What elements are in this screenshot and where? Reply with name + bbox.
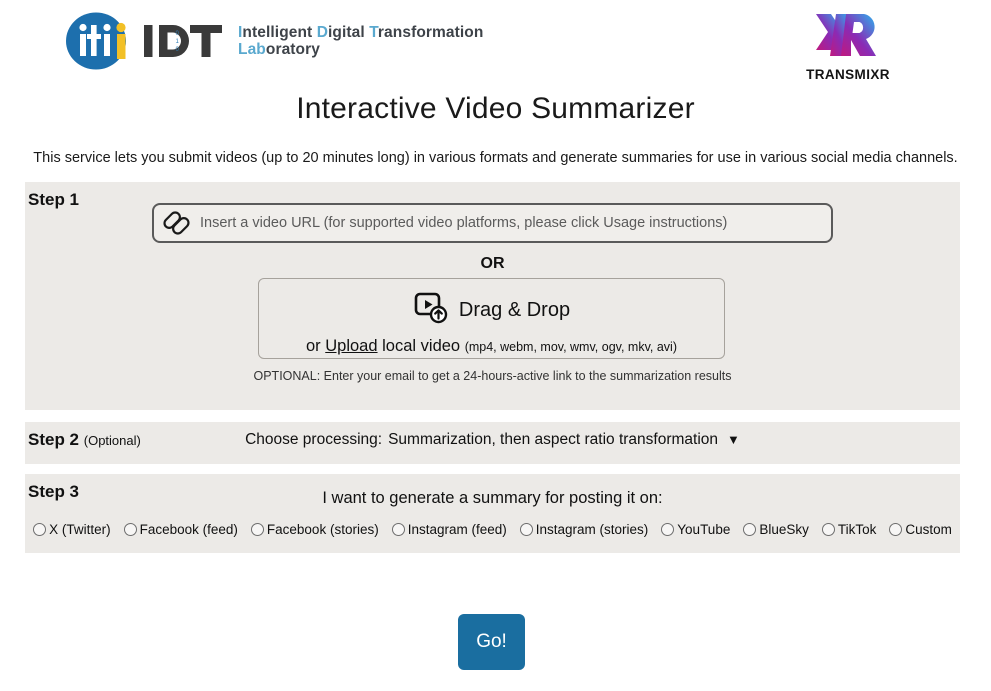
radio-option-youtube[interactable]: YouTube bbox=[661, 522, 730, 537]
radio-option-facebook-stories[interactable]: Facebook (stories) bbox=[251, 522, 379, 537]
go-button[interactable]: Go! bbox=[458, 614, 525, 670]
radio-label: Facebook (stories) bbox=[267, 522, 379, 537]
radio-circle-icon[interactable] bbox=[743, 523, 756, 536]
step1-label: Step 1 bbox=[28, 190, 79, 210]
radio-circle-icon[interactable] bbox=[33, 523, 46, 536]
video-upload-icon bbox=[413, 290, 449, 331]
radio-option-x-twitter[interactable]: X (Twitter) bbox=[33, 522, 111, 537]
processing-select[interactable]: Summarization, then aspect ratio transfo… bbox=[388, 431, 718, 448]
radio-circle-icon[interactable] bbox=[889, 523, 902, 536]
page-title: Interactive Video Summarizer bbox=[0, 92, 991, 126]
page-description: This service lets you submit videos (up … bbox=[0, 150, 991, 166]
processing-label: Choose processing: bbox=[245, 431, 382, 448]
radio-option-bluesky[interactable]: BlueSky bbox=[743, 522, 809, 537]
radio-label: Instagram (feed) bbox=[408, 522, 507, 537]
dropzone-prefix: or bbox=[306, 337, 325, 355]
upload-link[interactable]: Upload bbox=[325, 337, 377, 355]
page-header: 0 1 0 Intelligent Digital Transformation… bbox=[0, 0, 991, 84]
svg-text:1: 1 bbox=[176, 39, 180, 45]
transmixr-logo: TRANSMIXR bbox=[800, 8, 896, 82]
step3-prompt: I want to generate a summary for posting… bbox=[25, 489, 960, 508]
radio-option-instagram-stories[interactable]: Instagram (stories) bbox=[520, 522, 649, 537]
dropzone-suffix: local video bbox=[378, 337, 465, 355]
transmixr-wordmark: TRANSMIXR bbox=[800, 67, 896, 82]
processing-row: Choose processing:Summarization, then as… bbox=[25, 431, 960, 449]
video-url-input[interactable]: Insert a video URL (for supported video … bbox=[152, 203, 833, 243]
idt-tagline: Intelligent Digital Transformation Labor… bbox=[238, 24, 483, 59]
radio-label: TikTok bbox=[838, 522, 877, 537]
social-channel-radio-group: X (Twitter) Facebook (feed) Facebook (st… bbox=[25, 522, 960, 537]
radio-label: Instagram (stories) bbox=[536, 522, 649, 537]
iti-mark-icon bbox=[66, 12, 140, 70]
radio-circle-icon[interactable] bbox=[822, 523, 835, 536]
dropzone-title: Drag & Drop bbox=[459, 299, 570, 322]
radio-circle-icon[interactable] bbox=[392, 523, 405, 536]
link-chain-icon bbox=[154, 208, 200, 238]
radio-option-instagram-feed[interactable]: Instagram (feed) bbox=[392, 522, 507, 537]
radio-circle-icon[interactable] bbox=[124, 523, 137, 536]
idt-tagline-line1: Intelligent Digital Transformation bbox=[238, 24, 483, 41]
idt-wordmark: 0 1 0 bbox=[144, 19, 224, 63]
radio-circle-icon[interactable] bbox=[661, 523, 674, 536]
video-url-placeholder: Insert a video URL (for supported video … bbox=[200, 215, 727, 231]
or-divider-text: OR bbox=[25, 255, 960, 273]
radio-option-tiktok[interactable]: TikTok bbox=[822, 522, 877, 537]
chevron-down-icon[interactable]: ▼ bbox=[727, 432, 740, 447]
radio-circle-icon[interactable] bbox=[251, 523, 264, 536]
radio-label: Facebook (feed) bbox=[140, 522, 238, 537]
radio-label: Custom bbox=[905, 522, 952, 537]
supported-formats: (mp4, webm, mov, wmv, ogv, mkv, avi) bbox=[465, 340, 677, 354]
radio-circle-icon[interactable] bbox=[520, 523, 533, 536]
radio-option-facebook-feed[interactable]: Facebook (feed) bbox=[124, 522, 238, 537]
step1-panel: Step 1 Insert a video URL (for supported… bbox=[25, 182, 960, 410]
radio-label: YouTube bbox=[677, 522, 730, 537]
iti-idt-logo: 0 1 0 Intelligent Digital Transformation… bbox=[66, 10, 483, 72]
radio-label: BlueSky bbox=[759, 522, 809, 537]
step3-panel: Step 3 I want to generate a summary for … bbox=[25, 474, 960, 553]
step2-panel: Step 2 (Optional) Choose processing:Summ… bbox=[25, 422, 960, 464]
radio-label: X (Twitter) bbox=[49, 522, 111, 537]
video-dropzone[interactable]: Drag & Drop or Upload local video (mp4, … bbox=[258, 278, 725, 359]
radio-option-custom[interactable]: Custom bbox=[889, 522, 952, 537]
idt-tagline-line2: Laboratory bbox=[238, 41, 483, 58]
optional-email-note: OPTIONAL: Enter your email to get a 24-h… bbox=[25, 369, 960, 383]
transmixr-xr-monogram-icon bbox=[800, 8, 896, 66]
dropzone-upload-line: or Upload local video (mp4, webm, mov, w… bbox=[259, 337, 724, 356]
